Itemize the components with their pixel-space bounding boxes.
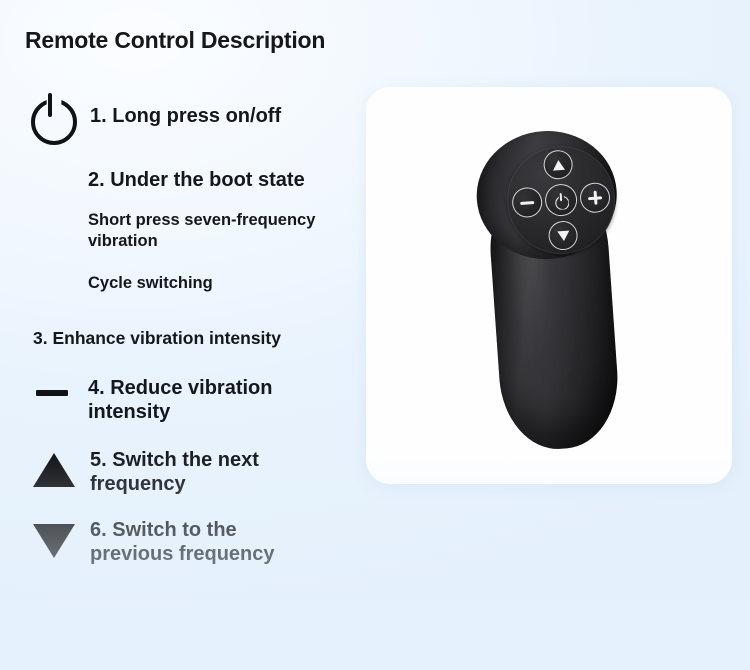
minus-button[interactable] — [511, 186, 543, 218]
instruction-step-1-label: 1. Long press on/off — [90, 105, 281, 128]
power-icon — [28, 92, 76, 140]
instruction-step-2: 2. Under the boot state Short press seve… — [88, 168, 338, 294]
triangle-down-icon — [32, 518, 76, 560]
power-button[interactable] — [544, 183, 578, 217]
page-title: Remote Control Description — [25, 27, 325, 54]
instruction-step-2-label: 2. Under the boot state — [88, 168, 338, 193]
power-icon — [553, 192, 569, 208]
instruction-step-1: 1. Long press on/off — [28, 92, 281, 140]
up-button[interactable] — [543, 149, 574, 180]
instruction-step-2-detail-1: Short press seven-frequency vibration — [88, 210, 338, 253]
triangle-down-icon — [557, 230, 570, 241]
minus-icon — [36, 376, 70, 406]
instruction-step-6-label: 6. Switch to the previous frequency — [90, 518, 320, 567]
plus-icon — [588, 190, 603, 205]
triangle-up-icon — [32, 448, 76, 490]
remote-control-device — [459, 110, 642, 460]
minus-icon — [520, 200, 534, 204]
instruction-step-2-detail-2: Cycle switching — [88, 273, 338, 294]
product-instruction-poster: Remote Control Description 1. Long press… — [0, 0, 750, 670]
instruction-step-5: 5. Switch the next frequency — [32, 448, 312, 497]
product-image-card — [366, 87, 732, 484]
instruction-step-5-label: 5. Switch the next frequency — [90, 448, 312, 497]
instruction-step-4-label: 4. Reduce vibration intensity — [88, 376, 314, 425]
instruction-step-3: 3. Enhance vibration intensity — [33, 328, 281, 349]
instruction-step-4: 4. Reduce vibration intensity — [36, 376, 314, 425]
instruction-step-3-label: 3. Enhance vibration intensity — [33, 328, 281, 349]
instruction-step-6: 6. Switch to the previous frequency — [32, 518, 320, 567]
triangle-up-icon — [552, 159, 565, 170]
down-button[interactable] — [548, 220, 579, 251]
plus-button[interactable] — [579, 182, 611, 214]
